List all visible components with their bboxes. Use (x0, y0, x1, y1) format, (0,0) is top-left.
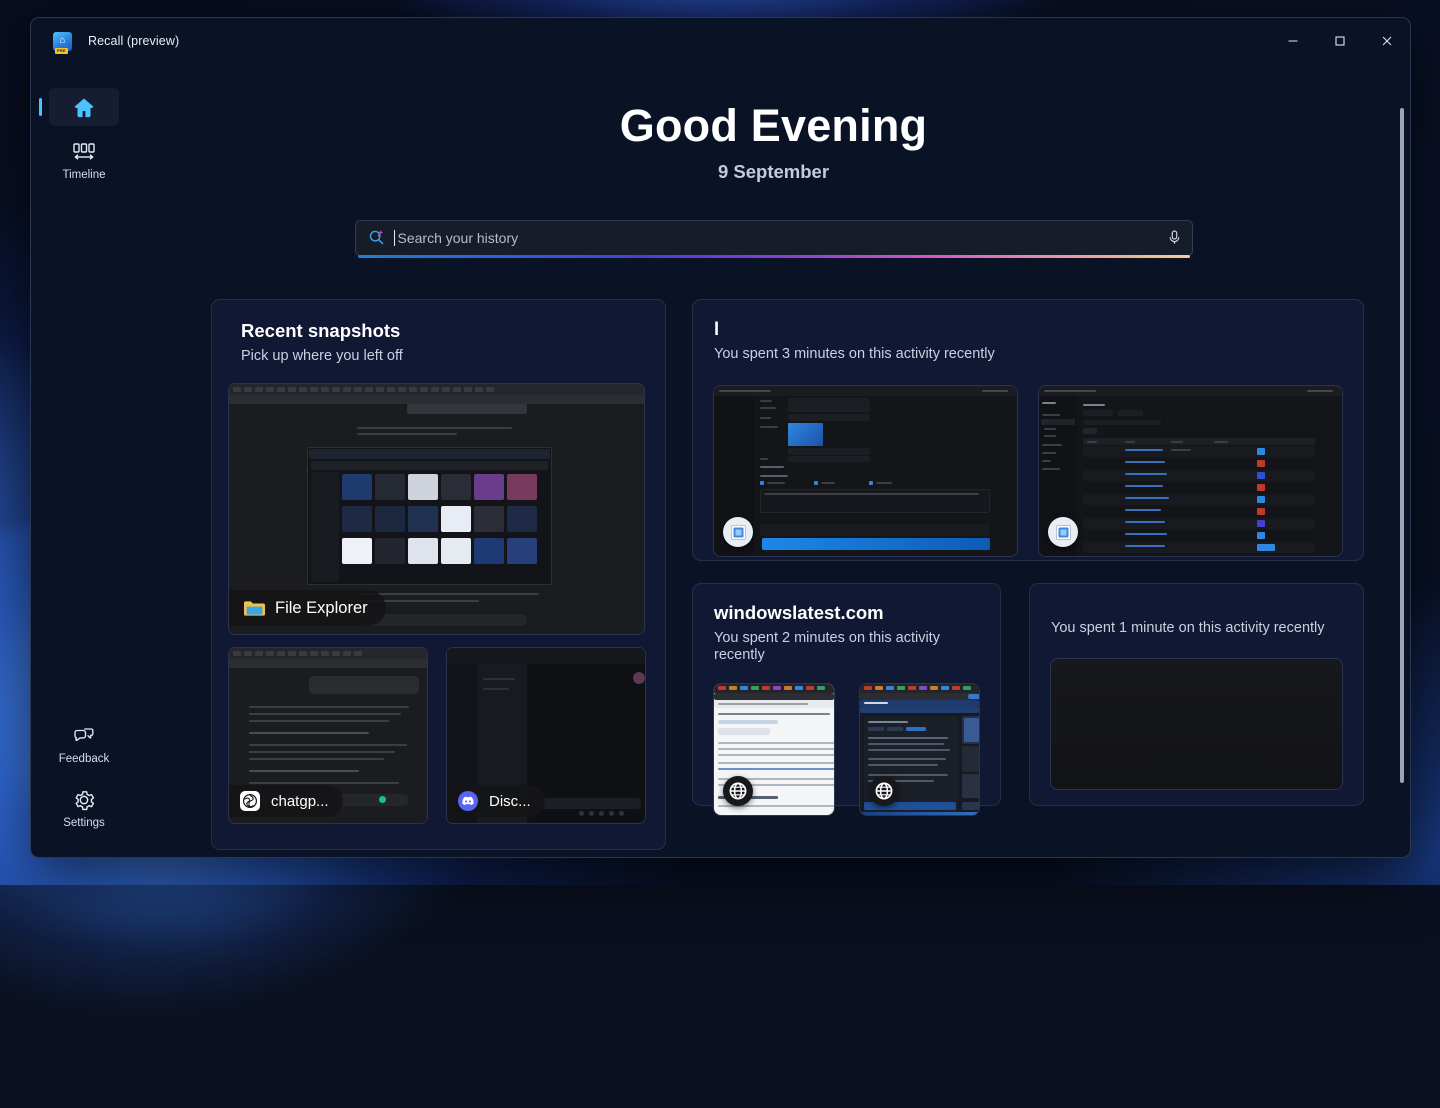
snapshot-chatgpt[interactable]: chatgp... (228, 647, 428, 824)
activity-header: l You spent 3 minutes on this activity r… (713, 318, 1343, 364)
openai-icon (239, 790, 261, 812)
sidebar-item-feedback-label: Feedback (59, 753, 110, 766)
window-title: Recall (preview) (88, 34, 179, 48)
activity-title: l (714, 318, 1343, 340)
titlebar: ⌂ PRE Recall (preview) (31, 18, 1410, 64)
search-bar (355, 220, 1193, 256)
recent-snapshots-title: Recent snapshots (241, 320, 649, 342)
activity-card-cms: l You spent 3 minutes on this activity r… (692, 299, 1364, 561)
sidebar-item-settings[interactable]: Settings (49, 780, 119, 835)
mock-browser-tabs (714, 684, 834, 693)
search-sparkle-icon (368, 229, 385, 246)
search-gradient-underline (358, 255, 1190, 258)
mock-address-bar (229, 659, 427, 668)
activity-card-untitled: You spent 1 minute on this activity rece… (1029, 583, 1364, 806)
sidebar-bottom-group: Feedback Settings (49, 716, 119, 857)
snapshot-file-explorer[interactable]: File Explorer (228, 383, 645, 635)
text-caret (394, 230, 395, 246)
snapshot-discord[interactable]: Disc... (446, 647, 646, 824)
mock-browser-tabs (229, 648, 427, 659)
recent-snapshots-card: Recent snapshots Pick up where you left … (211, 299, 666, 850)
wl-site-thumb[interactable] (859, 683, 981, 816)
page-title: Good Evening (137, 102, 1410, 151)
sidebar-item-feedback[interactable]: Feedback (49, 716, 119, 771)
scrollbar-thumb[interactable] (1400, 108, 1404, 783)
activity-title: windowslatest.com (714, 602, 980, 624)
recall-app-window: ⌂ PRE Recall (preview) (30, 17, 1411, 858)
sidebar: Timeline Feedback (31, 64, 137, 857)
recall-app-icon: ⌂ PRE (53, 32, 72, 51)
activities-bottom-row: windowslatest.com You spent 2 minutes on… (692, 583, 1364, 806)
wl-editor-thumb[interactable] (713, 683, 835, 816)
recent-snapshots-subtitle: Pick up where you left off (241, 348, 649, 365)
snapshot-app-label: chatgp... (271, 793, 329, 810)
app-window-icon (1048, 517, 1078, 547)
close-button[interactable] (1363, 18, 1410, 64)
folder-icon (243, 597, 265, 619)
sidebar-item-settings-label: Settings (63, 817, 105, 830)
search-input[interactable] (398, 230, 1159, 246)
snapshot-app-pill: File Explorer (229, 590, 386, 626)
activity-subtitle: You spent 2 minutes on this activity rec… (714, 630, 980, 665)
app-window-icon (723, 517, 753, 547)
globe-icon (723, 776, 753, 806)
activity-thumbnails (713, 385, 1343, 557)
timeline-icon (71, 139, 97, 165)
activity-header: You spent 1 minute on this activity rece… (1050, 620, 1343, 637)
sidebar-top-group: Timeline (49, 64, 119, 187)
maximize-button[interactable] (1316, 18, 1363, 64)
window-controls (1269, 18, 1410, 64)
cards-grid: Recent snapshots Pick up where you left … (137, 299, 1410, 850)
snapshot-app-pill: Disc... (447, 785, 545, 817)
recent-snapshots-header: Recent snapshots Pick up where you left … (228, 318, 649, 366)
main-content: Good Evening 9 September (137, 64, 1410, 857)
greeting-date: 9 September (137, 161, 1410, 183)
sidebar-item-home[interactable] (49, 88, 119, 126)
home-icon (71, 95, 97, 121)
search-box[interactable] (355, 220, 1193, 256)
activity-subtitle: You spent 3 minutes on this activity rec… (714, 346, 1343, 363)
untitled-thumb[interactable] (1050, 658, 1343, 790)
activity-header: windowslatest.com You spent 2 minutes on… (713, 602, 980, 665)
mock-address-bar (229, 395, 644, 404)
main-scrollbar[interactable] (1400, 108, 1404, 787)
activity-thumbnails (713, 683, 980, 816)
activities-column: l You spent 3 minutes on this activity r… (692, 299, 1364, 806)
activity-subtitle: You spent 1 minute on this activity rece… (1051, 620, 1343, 637)
discord-icon (457, 790, 479, 812)
preview-badge: PRE (55, 48, 68, 54)
snapshot-app-label: Disc... (489, 793, 531, 810)
activity-card-windowslatest: windowslatest.com You spent 2 minutes on… (692, 583, 1001, 806)
greeting-block: Good Evening 9 September (137, 64, 1410, 183)
sidebar-item-timeline[interactable]: Timeline (49, 132, 119, 187)
sidebar-item-timeline-label: Timeline (62, 169, 105, 182)
feedback-icon (71, 723, 97, 749)
mock-browser-tabs (229, 384, 644, 395)
globe-icon (869, 776, 899, 806)
cms-posts-thumb[interactable] (1038, 385, 1343, 557)
activity-thumbnail-image (1039, 386, 1342, 556)
activity-thumbnail-image (714, 386, 1017, 556)
cms-form-thumb[interactable] (713, 385, 1018, 557)
titlebar-left-group: ⌂ PRE Recall (preview) (31, 32, 179, 51)
snapshot-app-pill: chatgp... (229, 785, 343, 817)
recent-snapshots-small-row: chatgp... (228, 647, 649, 824)
gear-icon (71, 787, 97, 813)
microphone-icon[interactable] (1167, 229, 1182, 246)
minimize-button[interactable] (1269, 18, 1316, 64)
snapshot-app-label: File Explorer (275, 599, 368, 618)
mock-browser-tabs (860, 684, 980, 693)
app-icon-glyph: ⌂ (59, 36, 65, 46)
